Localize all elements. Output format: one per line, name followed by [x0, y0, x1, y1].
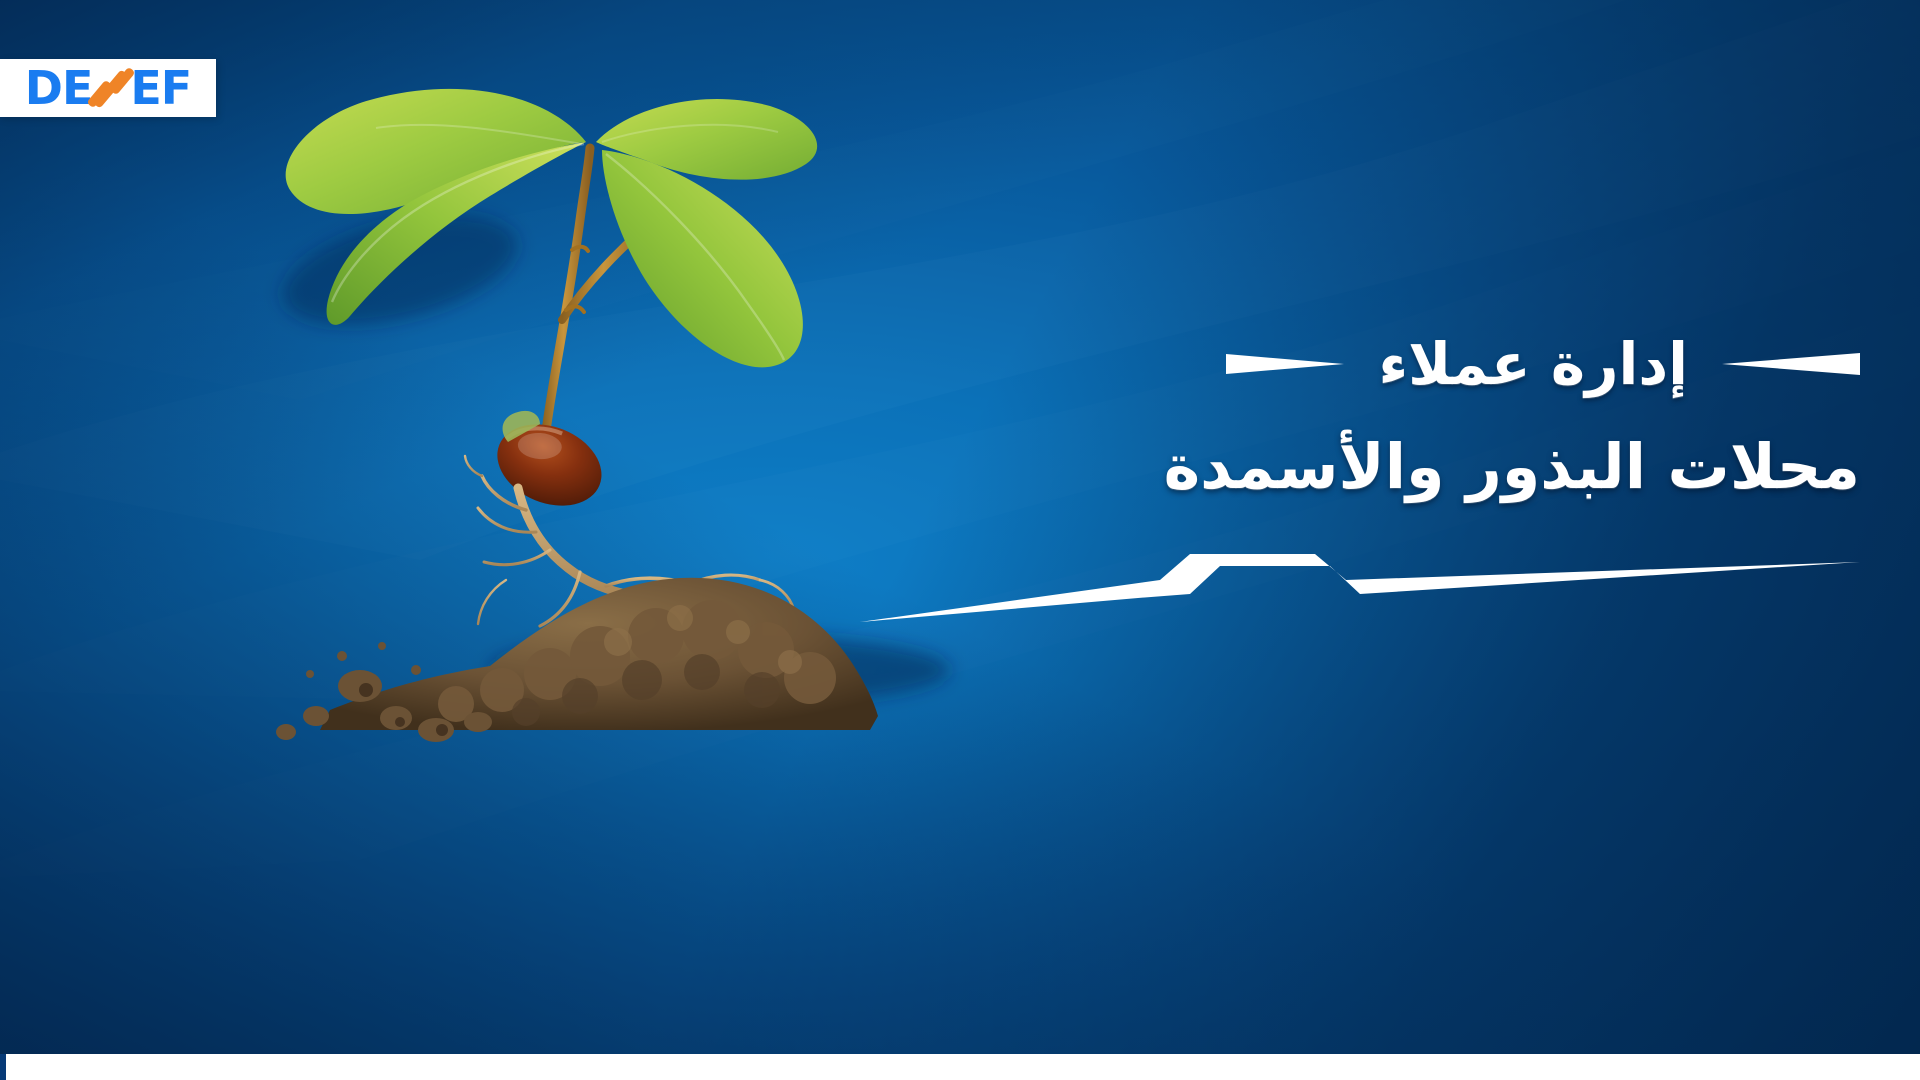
brand-logo-text-right: EF — [130, 65, 191, 111]
brand-logo-wordmark: DE EF — [25, 65, 191, 111]
footer-left-edge — [0, 1054, 6, 1080]
banner-canvas: DE EF — [0, 0, 1920, 1080]
headline-block: إدارة عملاء محلات البذور والأسمدة — [860, 330, 1860, 628]
headline-title-row: إدارة عملاء — [860, 330, 1860, 398]
right-wedge-divider-icon — [1722, 351, 1860, 377]
brand-logo-text-left: DE — [25, 65, 93, 111]
seedling-illustration — [250, 70, 890, 730]
swoosh-ribbon-icon — [860, 532, 1860, 628]
page-subtitle: محلات البذور والأسمدة — [860, 430, 1860, 503]
footer-bar — [6, 1054, 1920, 1080]
x-cross-icon — [91, 66, 131, 110]
brand-logo[interactable]: DE EF — [0, 59, 216, 117]
left-wedge-divider-icon — [1226, 351, 1344, 377]
page-title: إدارة عملاء — [1378, 330, 1688, 398]
